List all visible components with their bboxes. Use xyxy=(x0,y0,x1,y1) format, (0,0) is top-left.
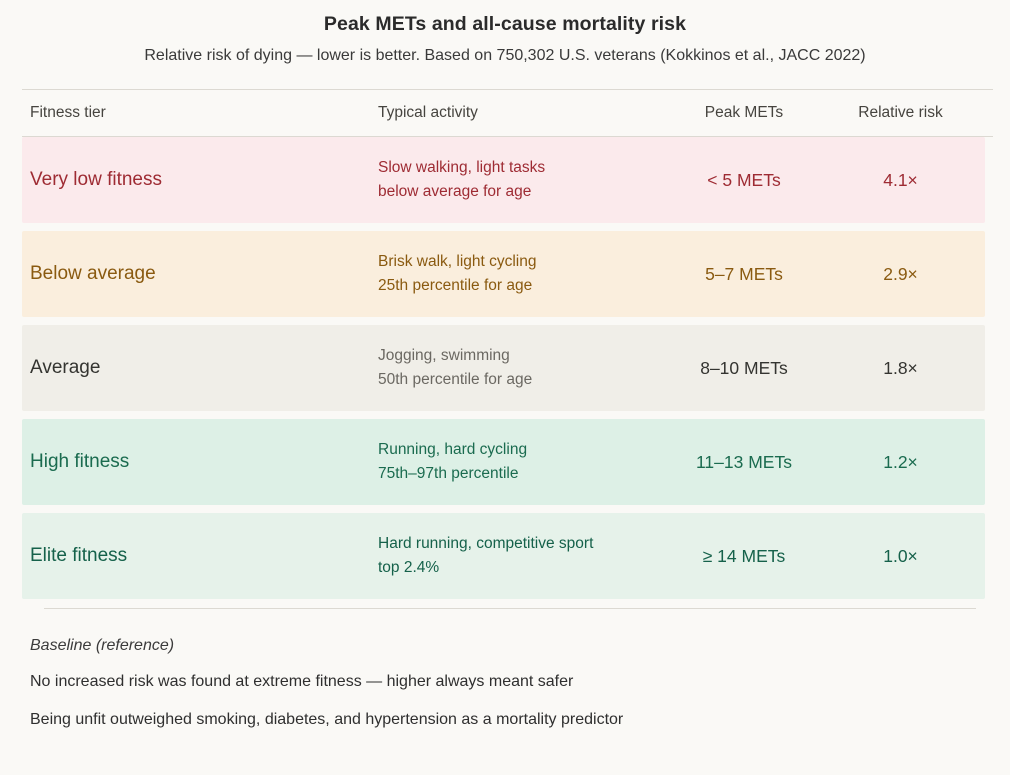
cell-typical-activity: Running, hard cycling75th–97th percentil… xyxy=(378,438,664,486)
activity-line-primary: Jogging, swimming xyxy=(378,344,664,368)
activity-line-secondary: 75th–97th percentile xyxy=(378,462,664,486)
peak-mets-value: 5–7 METs xyxy=(705,264,783,284)
activity-line-secondary: 50th percentile for age xyxy=(378,368,664,392)
cell-relative-risk: 1.8× xyxy=(824,358,977,379)
cell-relative-risk: 1.0× xyxy=(824,546,977,567)
tier-label: Average xyxy=(30,356,378,380)
cell-peak-mets: 5–7 METs xyxy=(664,264,824,285)
fitness-table: Fitness tier Typical activity Peak METs … xyxy=(0,90,1010,599)
footer-note-1: No increased risk was found at extreme f… xyxy=(22,672,993,693)
relative-risk-value: 4.1× xyxy=(883,170,918,190)
cell-relative-risk: 4.1× xyxy=(824,170,977,191)
activity-line-primary: Brisk walk, light cycling xyxy=(378,250,664,274)
cell-fitness-tier: Very low fitness xyxy=(22,168,378,192)
cell-peak-mets: 8–10 METs xyxy=(664,358,824,379)
table-row: AverageJogging, swimming50th percentile … xyxy=(22,325,985,411)
page-footer: Baseline (reference) No increased risk w… xyxy=(22,608,993,731)
cell-relative-risk: 1.2× xyxy=(824,452,977,473)
peak-mets-value: 8–10 METs xyxy=(700,358,788,378)
cell-fitness-tier: Below average xyxy=(22,262,378,286)
table-body: Very low fitnessSlow walking, light task… xyxy=(22,137,985,599)
cell-fitness-tier: High fitness xyxy=(22,450,378,474)
table-row: High fitnessRunning, hard cycling75th–97… xyxy=(22,419,985,505)
column-header-relative-risk: Relative risk xyxy=(824,104,977,122)
relative-risk-value: 1.0× xyxy=(883,546,918,566)
peak-mets-value: ≥ 14 METs xyxy=(703,546,786,566)
activity-line-secondary: below average for age xyxy=(378,180,664,204)
relative-risk-value: 2.9× xyxy=(883,264,918,284)
relative-risk-value: 1.8× xyxy=(883,358,918,378)
cell-typical-activity: Hard running, competitive sporttop 2.4% xyxy=(378,532,664,580)
table-row: Elite fitnessHard running, competitive s… xyxy=(22,513,985,599)
table-header-row: Fitness tier Typical activity Peak METs … xyxy=(0,90,993,136)
activity-line-secondary: top 2.4% xyxy=(378,556,664,580)
baseline-label: Baseline (reference) xyxy=(22,637,993,655)
cell-peak-mets: 11–13 METs xyxy=(664,452,824,473)
divider-footer xyxy=(44,608,976,609)
tier-label: Very low fitness xyxy=(30,168,378,192)
cell-fitness-tier: Elite fitness xyxy=(22,544,378,568)
peak-mets-value: < 5 METs xyxy=(707,170,780,190)
cell-peak-mets: < 5 METs xyxy=(664,170,824,191)
peak-mets-value: 11–13 METs xyxy=(696,452,792,472)
activity-line-primary: Hard running, competitive sport xyxy=(378,532,664,556)
cell-typical-activity: Brisk walk, light cycling25th percentile… xyxy=(378,250,664,298)
page-root: Peak METs and all-cause mortality risk R… xyxy=(0,0,1010,775)
page-header: Peak METs and all-cause mortality risk R… xyxy=(0,0,1010,67)
table-row: Very low fitnessSlow walking, light task… xyxy=(22,137,985,223)
cell-typical-activity: Slow walking, light tasksbelow average f… xyxy=(378,156,664,204)
cell-fitness-tier: Average xyxy=(22,356,378,380)
activity-line-primary: Running, hard cycling xyxy=(378,438,664,462)
footer-note-2: Being unfit outweighed smoking, diabetes… xyxy=(22,710,993,731)
cell-typical-activity: Jogging, swimming50th percentile for age xyxy=(378,344,664,392)
tier-label: Below average xyxy=(30,262,378,286)
column-header-typical-activity: Typical activity xyxy=(378,104,664,122)
column-header-peak-mets: Peak METs xyxy=(664,104,824,122)
tier-label: High fitness xyxy=(30,450,378,474)
tier-label: Elite fitness xyxy=(30,544,378,568)
activity-line-secondary: 25th percentile for age xyxy=(378,274,664,298)
page-subtitle: Relative risk of dying — lower is better… xyxy=(0,46,1010,67)
column-header-fitness-tier: Fitness tier xyxy=(22,104,378,122)
activity-line-primary: Slow walking, light tasks xyxy=(378,156,664,180)
cell-peak-mets: ≥ 14 METs xyxy=(664,546,824,567)
cell-relative-risk: 2.9× xyxy=(824,264,977,285)
relative-risk-value: 1.2× xyxy=(883,452,918,472)
page-title: Peak METs and all-cause mortality risk xyxy=(0,12,1010,37)
table-row: Below averageBrisk walk, light cycling25… xyxy=(22,231,985,317)
